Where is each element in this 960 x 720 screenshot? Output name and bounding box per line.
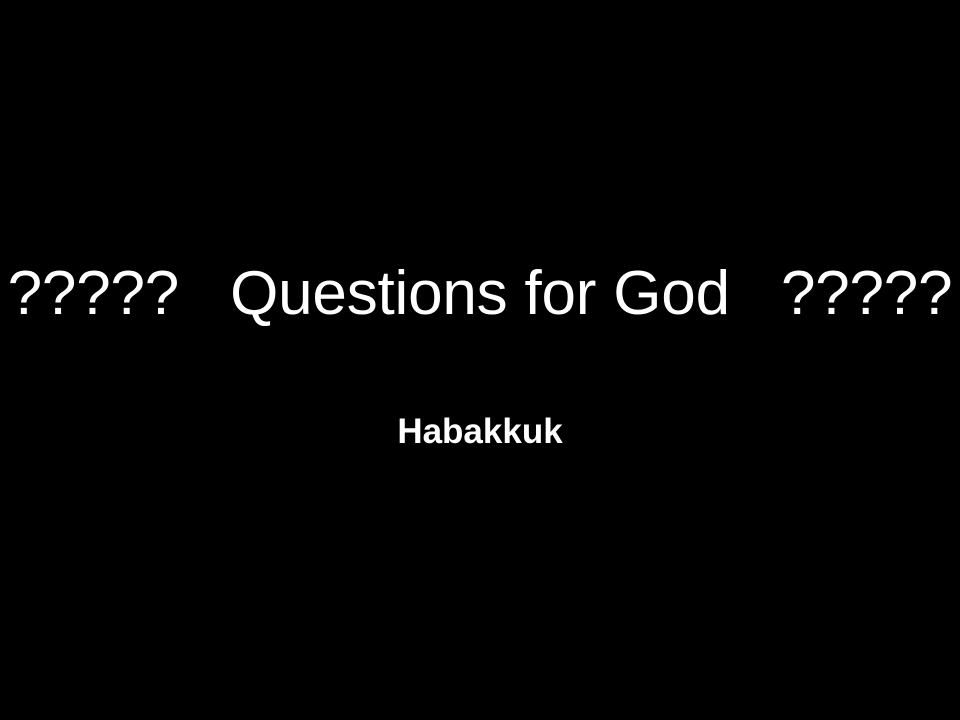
slide-subtitle-placeholder[interactable]: Habakkuk bbox=[0, 410, 960, 454]
presentation-slide: ????? Questions for God ????? Habakkuk bbox=[0, 0, 960, 720]
slide-subtitle-text: Habakkuk bbox=[0, 410, 960, 454]
slide-title-placeholder[interactable]: ????? Questions for God ????? bbox=[0, 258, 960, 330]
slide-content-area: ????? Questions for God ????? Habakkuk bbox=[0, 0, 960, 720]
slide-title-text: ????? Questions for God ????? bbox=[0, 258, 960, 330]
